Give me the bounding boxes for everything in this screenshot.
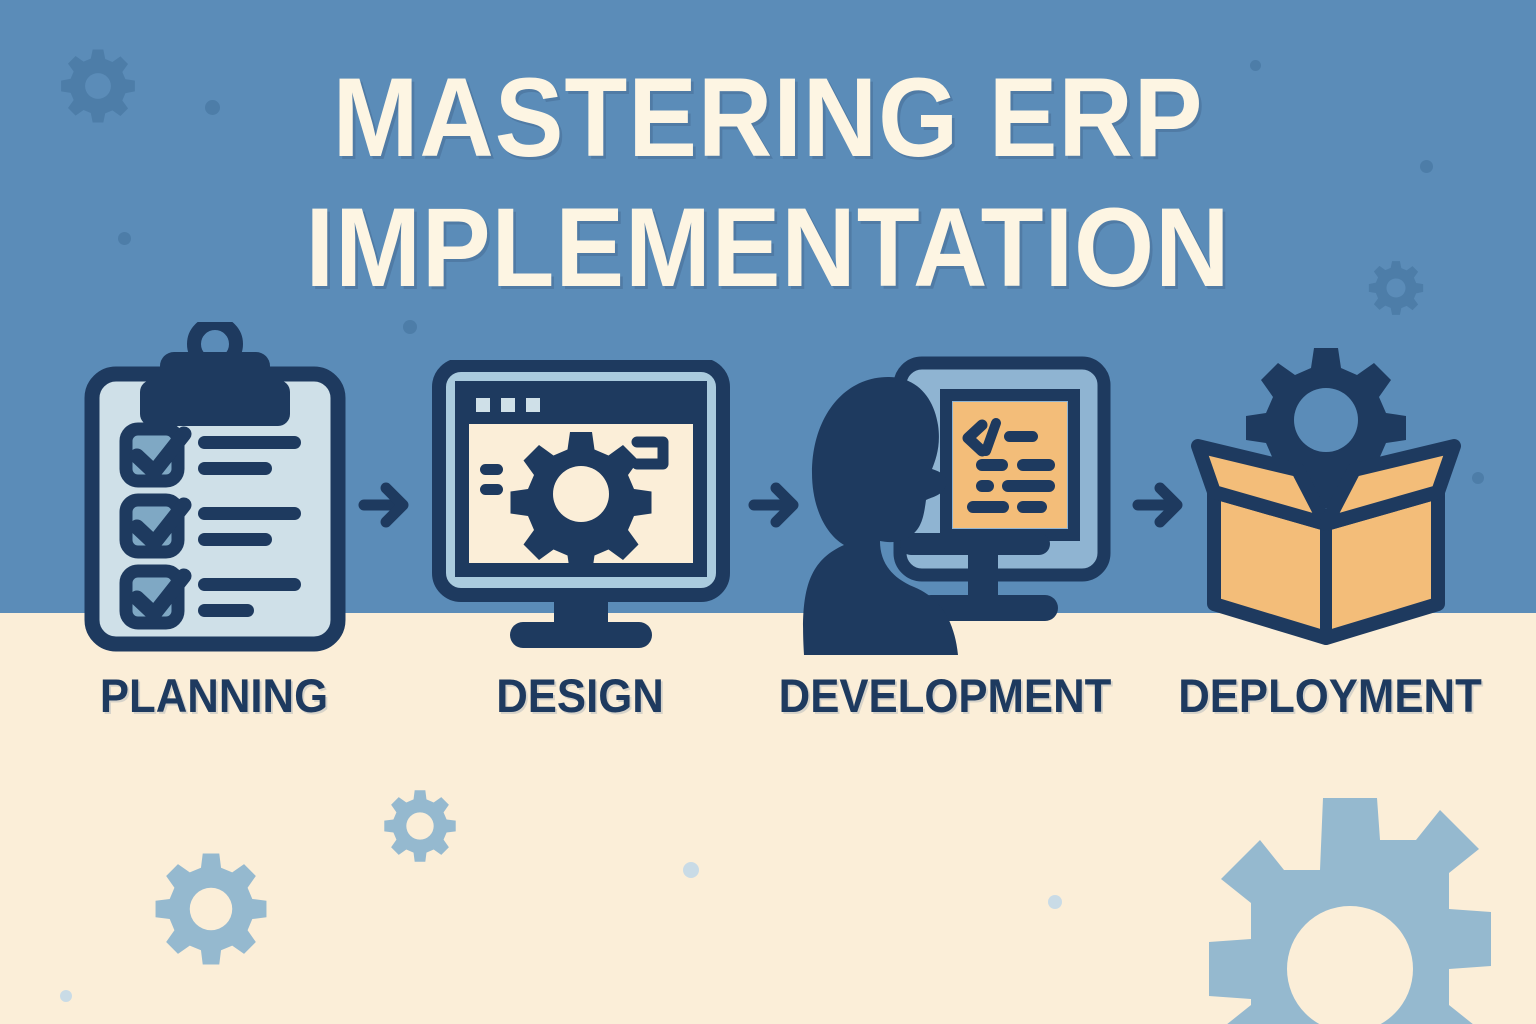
window-dot bbox=[476, 398, 490, 412]
title-line-1: MASTERING ERP bbox=[61, 62, 1474, 174]
arrow-design-to-development bbox=[748, 478, 802, 537]
decorative-dot bbox=[60, 990, 72, 1002]
arrow-development-to-deployment bbox=[1132, 478, 1186, 537]
stage-label-development: DEVELOPMENT bbox=[773, 668, 1117, 724]
erp-implementation-infographic: MASTERING ERP IMPLEMENTATION bbox=[0, 0, 1536, 1024]
arrow-planning-to-design bbox=[358, 478, 412, 537]
stage-label-deployment: DEPLOYMENT bbox=[1163, 668, 1498, 724]
stage-design-icon[interactable] bbox=[432, 360, 730, 660]
stage-planning-icon[interactable] bbox=[84, 322, 346, 657]
stage-label-design: DESIGN bbox=[431, 668, 729, 724]
window-dot bbox=[526, 398, 540, 412]
stage-label-planning: PLANNING bbox=[56, 668, 372, 724]
decorative-dot bbox=[683, 862, 699, 878]
poster-title: MASTERING ERP IMPLEMENTATION bbox=[0, 62, 1536, 304]
stage-development-icon[interactable] bbox=[772, 355, 1112, 660]
title-line-2: IMPLEMENTATION bbox=[61, 192, 1474, 304]
window-dot bbox=[501, 398, 515, 412]
decorative-dot bbox=[1048, 895, 1062, 909]
stage-deployment-icon[interactable] bbox=[1176, 342, 1476, 665]
decorative-dot bbox=[403, 320, 417, 334]
